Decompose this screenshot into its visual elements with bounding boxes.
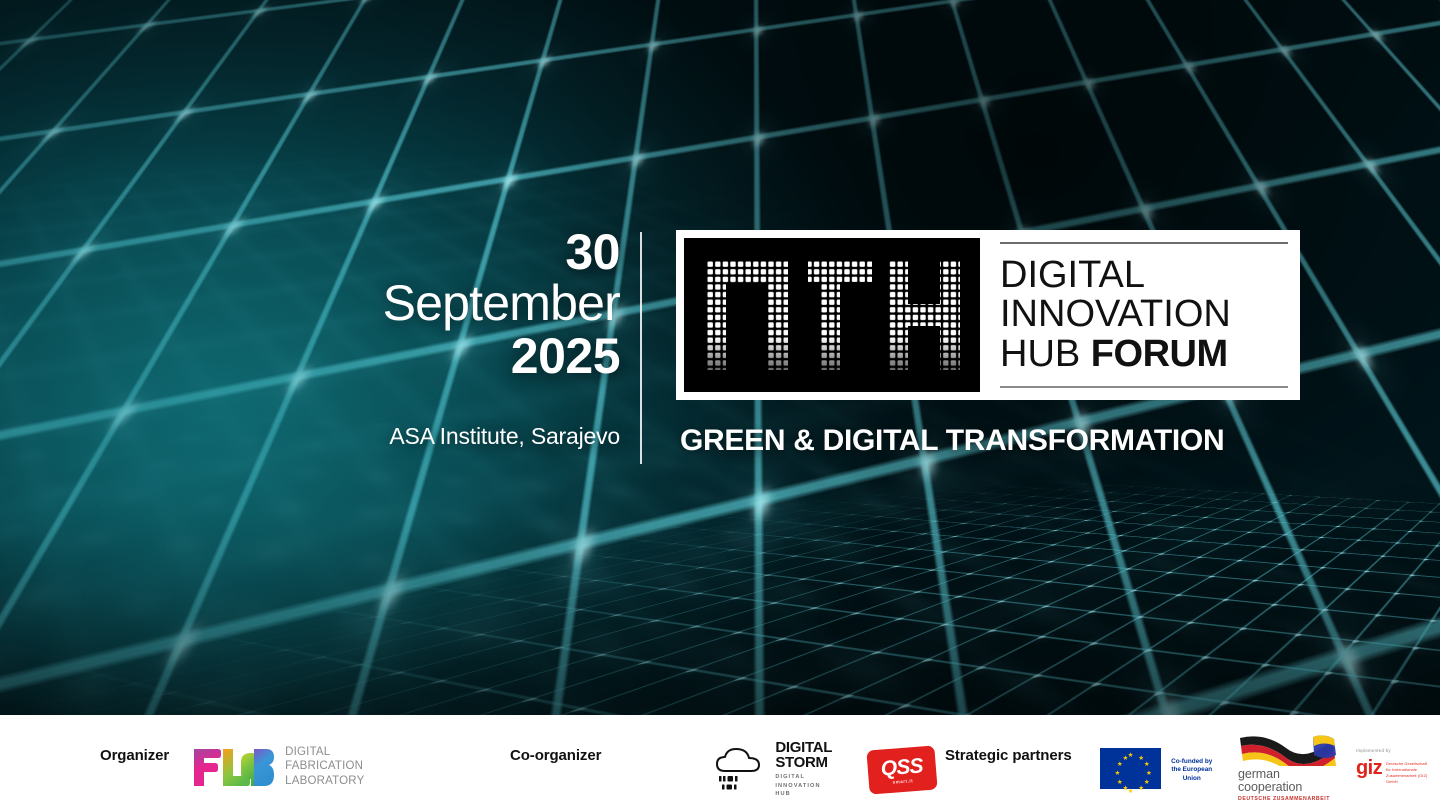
strategic-partners-label: Strategic partners [945,747,1072,764]
digital-storm-title-line1: DIGITAL [775,740,832,755]
partner-logo-qss[interactable]: QSS smart.it [866,745,937,794]
eu-caption: Co-funded by the European Union [1161,758,1222,784]
dih-forum-logo: DIGITAL INNOVATION HUB FORUM [676,230,1300,400]
flab-wordmark-icon [191,744,275,790]
flab-descriptor-line2: FABRICATION [285,759,364,773]
eu-caption-line1: Co-funded by [1161,758,1222,767]
digital-storm-sub: DIGITAL INNOVATION HUB [775,773,832,798]
german-cooperation-wave-icon [1238,733,1336,766]
giz-wordmark: giz [1356,760,1382,776]
vertical-divider [640,232,642,464]
wordmark-forum: FORUM [1091,333,1228,375]
hero-content: 30 September 2025 ASA Institute, Sarajev… [0,0,1440,715]
dih-dotmatrix-mark [684,238,980,392]
dih-forum-wordmark: DIGITAL INNOVATION HUB FORUM [996,238,1292,392]
coorganizer-label: Co-organizer [510,747,601,764]
wordmark-line-innovation: INNOVATION [1000,295,1288,334]
eu-caption-line2: the European Union [1161,766,1222,783]
partner-logo-european-union[interactable]: ★ ★ ★ ★ ★ ★ ★ ★ ★ ★ ★ ★ Co-funded by the… [1100,748,1222,789]
giz-subtext-line3: Zusammenarbeit (GIZ) GmbH [1386,773,1440,785]
event-date-day: 30 [200,228,620,276]
eu-flag-icon: ★ ★ ★ ★ ★ ★ ★ ★ ★ ★ ★ ★ [1100,748,1162,789]
german-cooperation-title-line2: cooperation [1238,781,1336,794]
flab-descriptor-line3: LABORATORY [285,774,364,788]
digital-storm-title-line2: STORM [775,755,832,770]
digital-storm-wordmark: DIGITAL STORM DIGITAL INNOVATION HUB [775,740,832,798]
qss-sub: smart.it [892,777,913,784]
digital-storm-sub-line2: INNOVATION [775,782,832,790]
partner-logo-digital-storm[interactable]: DIGITAL STORM DIGITAL INNOVATION HUB [711,740,832,798]
flab-descriptor-line1: DIGITAL [285,745,364,759]
wordmark-line-digital: DIGITAL [1000,256,1288,295]
footer-group-coorganizer: Co-organizer DIGITAL [510,715,936,810]
digital-storm-sub-line3: HUB [775,790,832,798]
event-date-month: September [200,278,620,329]
wordmark-line-hub-forum: HUB FORUM [1000,335,1288,374]
cloud-icon [711,745,769,793]
wordmark-hub: HUB [1000,333,1080,375]
flab-descriptor: DIGITAL FABRICATION LABORATORY [285,745,364,788]
qss-wordmark: QSS [880,754,923,778]
giz-implemented-by: Implemented by [1356,748,1440,753]
footer-group-strategic-partners: Strategic partners ★ ★ ★ ★ ★ ★ ★ ★ ★ ★ ★… [945,715,1440,810]
partner-logo-giz[interactable]: Implemented by giz Deutsche Gesellschaft… [1356,748,1440,785]
event-banner: 30 September 2025 ASA Institute, Sarajev… [0,0,1440,810]
partner-logo-flab[interactable]: DIGITAL FABRICATION LABORATORY [191,744,364,790]
giz-subtext: Deutsche Gesellschaft für Internationale… [1386,761,1440,785]
event-date-block: 30 September 2025 ASA Institute, Sarajev… [200,228,620,450]
organizer-label: Organizer [100,747,169,764]
partner-logo-german-cooperation[interactable]: german cooperation DEUTSCHE ZUSAMMENARBE… [1238,733,1336,802]
german-cooperation-subtitle: DEUTSCHE ZUSAMMENARBEIT [1238,796,1336,802]
event-tagline: GREEN & DIGITAL TRANSFORMATION [680,424,1224,458]
wordmark-rule-bottom [1000,386,1288,388]
digital-storm-sub-line1: DIGITAL [775,773,832,781]
partners-footer: Organizer [0,715,1440,810]
footer-group-organizer: Organizer [100,715,364,810]
event-date-year: 2025 [200,331,620,381]
event-venue: ASA Institute, Sarajevo [200,423,620,450]
